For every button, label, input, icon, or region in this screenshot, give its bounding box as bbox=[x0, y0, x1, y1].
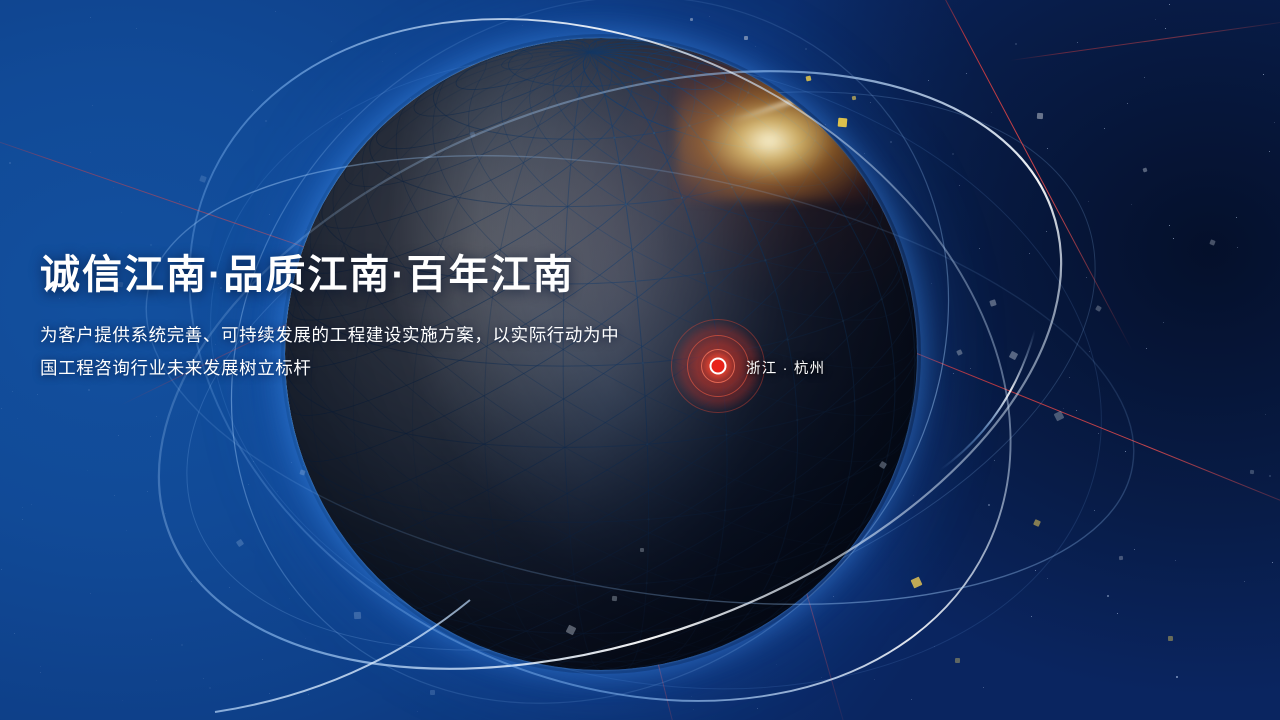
particle bbox=[640, 548, 644, 552]
particle bbox=[469, 131, 475, 137]
particle bbox=[955, 658, 960, 663]
particle bbox=[612, 596, 617, 601]
particle bbox=[806, 76, 812, 82]
particle bbox=[1037, 113, 1043, 119]
particle bbox=[1119, 556, 1123, 560]
particle bbox=[354, 612, 361, 619]
particle bbox=[1054, 411, 1065, 422]
particle bbox=[1209, 239, 1215, 245]
particle bbox=[430, 690, 435, 695]
hero-copy: 诚信江南·品质江南·百年江南 为客户提供系统完善、可持续发展的工程建设实施方案，… bbox=[40, 252, 660, 384]
particle bbox=[236, 539, 244, 547]
hero-subtitle: 为客户提供系统完善、可持续发展的工程建设实施方案，以实际行动为中国工程咨询行业未… bbox=[40, 319, 632, 384]
particle bbox=[1009, 351, 1018, 360]
particle bbox=[744, 36, 748, 40]
marker-core-dot bbox=[710, 358, 727, 375]
particle bbox=[1095, 305, 1102, 312]
particle bbox=[299, 469, 305, 475]
particle bbox=[1033, 519, 1041, 527]
particle bbox=[989, 299, 996, 306]
particle bbox=[852, 96, 857, 101]
particle bbox=[1250, 470, 1254, 474]
page-title: 诚信江南·品质江南·百年江南 bbox=[40, 252, 660, 299]
marker-label: 浙江 · 杭州 bbox=[746, 357, 825, 378]
particle bbox=[1143, 168, 1148, 173]
particle bbox=[690, 18, 693, 21]
hero-banner: 浙江 · 杭州 诚信江南·品质江南·百年江南 为客户提供系统完善、可持续发展的工… bbox=[0, 0, 1280, 720]
particle bbox=[838, 118, 848, 128]
particle bbox=[566, 625, 577, 636]
particle bbox=[956, 349, 963, 356]
particle bbox=[1168, 636, 1173, 641]
particle bbox=[879, 461, 887, 469]
particle bbox=[199, 175, 207, 183]
particle bbox=[911, 577, 923, 589]
